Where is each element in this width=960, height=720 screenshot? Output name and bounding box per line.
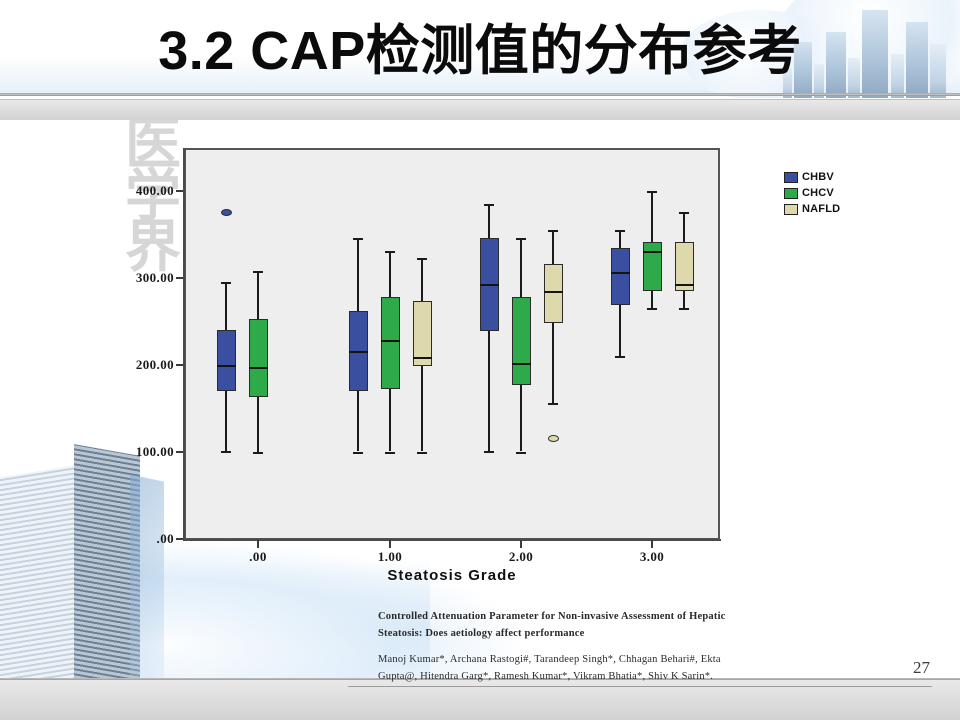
y-axis-tick-label: .00	[88, 531, 174, 547]
boxplot-whisker-cap	[548, 230, 558, 232]
boxplot-median-line	[217, 365, 236, 367]
y-axis-tick-mark	[176, 190, 183, 192]
boxplot-whisker-cap	[221, 451, 231, 453]
boxplot-iqr-box	[217, 330, 236, 391]
header-divider-line	[0, 93, 960, 96]
x-axis-tick-mark	[257, 540, 259, 548]
boxplot-median-line	[675, 284, 694, 286]
boxplot-whisker-cap	[647, 308, 657, 310]
boxplot-median-line	[643, 251, 662, 253]
boxplot-whisker-cap	[679, 308, 689, 310]
y-axis-tick-mark	[176, 451, 183, 453]
boxplot-whisker-cap	[615, 230, 625, 232]
x-axis-title: Steatosis Grade	[184, 567, 720, 584]
boxplot-median-line	[611, 272, 630, 274]
x-axis-tick-label: 3.00	[622, 549, 682, 565]
boxplot-whisker-cap	[417, 452, 427, 454]
header-grey-band	[0, 99, 960, 120]
boxplot-median-line	[480, 284, 499, 286]
caption-title-block: Controlled Attenuation Parameter for Non…	[378, 608, 898, 642]
boxplot-median-line	[349, 351, 368, 353]
boxplot-median-line	[249, 367, 268, 369]
legend-item[interactable]: CHCV	[784, 186, 840, 200]
boxplot-iqr-box	[643, 242, 662, 291]
boxplot-iqr-box	[512, 297, 531, 386]
boxplot-median-line	[413, 357, 432, 359]
x-axis-tick-mark	[651, 540, 653, 548]
y-axis-tick-label: 200.00	[88, 357, 174, 373]
boxplot-whisker-cap	[417, 258, 427, 260]
caption-title-line: Controlled Attenuation Parameter for Non…	[378, 608, 898, 625]
boxplot-whisker-cap	[484, 451, 494, 453]
boxplot-iqr-box	[611, 248, 630, 305]
boxplot-whisker-cap	[253, 271, 263, 273]
x-axis-tick-mark	[389, 540, 391, 548]
x-axis-tick-label: .00	[228, 549, 288, 565]
slide-title: 3.2 CAP检测值的分布参考	[0, 6, 960, 85]
legend-swatch-icon	[784, 188, 798, 199]
legend-item[interactable]: CHBV	[784, 170, 840, 184]
y-axis-tick-mark	[176, 364, 183, 366]
page-number: 27	[913, 658, 930, 678]
x-axis-tick-mark	[520, 540, 522, 548]
slide-canvas: 3.2 CAP检测值的分布参考 医学界 .00100.00200.00300.0…	[0, 0, 960, 720]
boxplot-whisker-cap	[385, 452, 395, 454]
boxplot-whisker-cap	[484, 204, 494, 206]
boxplot-whisker-cap	[647, 191, 657, 193]
boxplot-whisker-cap	[221, 282, 231, 284]
caption-author-line: Gupta@, Hitendra Garg*, Ramesh Kumar*, V…	[378, 668, 898, 685]
chart-legend: CHBVCHCVNAFLD	[784, 170, 840, 218]
legend-item-label: CHBV	[802, 171, 834, 183]
caption-author-line: Manoj Kumar*, Archana Rastogi#, Tarandee…	[378, 651, 898, 668]
legend-item-label: CHCV	[802, 187, 834, 199]
y-axis-tick-mark	[176, 277, 183, 279]
x-axis-tick-label: 1.00	[360, 549, 420, 565]
boxplot-median-line	[512, 363, 531, 365]
y-axis-line	[183, 148, 185, 540]
boxplot-iqr-box	[544, 264, 563, 322]
boxplot-whisker-cap	[679, 212, 689, 214]
boxplot-median-line	[381, 340, 400, 342]
boxplot-whisker-cap	[353, 238, 363, 240]
y-axis-tick-label: 400.00	[88, 183, 174, 199]
boxplot-whisker-cap	[548, 403, 558, 405]
figure-caption: Controlled Attenuation Parameter for Non…	[378, 608, 898, 685]
boxplot-median-line	[544, 291, 563, 293]
y-axis-tick-label: 300.00	[88, 270, 174, 286]
y-axis-tick-mark	[176, 538, 183, 540]
legend-item-label: NAFLD	[802, 203, 840, 215]
legend-swatch-icon	[784, 204, 798, 215]
boxplot-iqr-box	[381, 297, 400, 389]
caption-title-line: Steatosis: Does aetiology affect perform…	[378, 625, 898, 642]
legend-swatch-icon	[784, 172, 798, 183]
boxplot-whisker-cap	[253, 452, 263, 454]
y-axis-tick-label: 100.00	[88, 444, 174, 460]
x-axis-line	[183, 539, 721, 541]
boxplot-whisker-cap	[353, 452, 363, 454]
boxplot-whisker-cap	[385, 251, 395, 253]
boxplot-iqr-box	[249, 319, 268, 396]
boxplot-whisker-cap	[516, 452, 526, 454]
legend-item[interactable]: NAFLD	[784, 202, 840, 216]
boxplot-whisker-cap	[615, 356, 625, 358]
caption-authors-block: Manoj Kumar*, Archana Rastogi#, Tarandee…	[378, 651, 898, 685]
boxplot-whisker-cap	[516, 238, 526, 240]
x-axis-tick-label: 2.00	[491, 549, 551, 565]
footer-rule	[348, 686, 932, 687]
